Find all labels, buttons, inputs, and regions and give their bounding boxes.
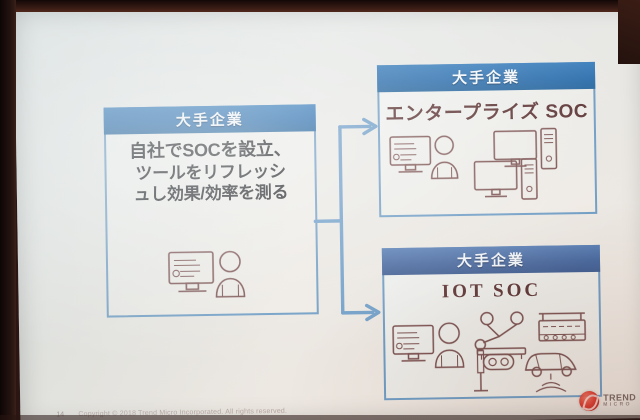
trend-micro-logo: TREND MICRO [579,390,636,411]
bottom-right-box-body: IOT SOC [382,272,602,400]
room-edge-bottom [0,415,640,420]
top-right-box-header: 大手企業 [377,62,595,92]
bottom-right-box: 大手企業 IOT SOC [382,245,602,400]
left-box-line-1: 自社でSOCを設立、 [104,137,316,163]
left-box-header: 大手企業 [104,104,316,134]
robot-arm-icon [475,312,526,360]
desktop-pc-tower-icon [474,159,537,200]
left-box-text: 自社でSOCを設立、 ツールをリフレッシ ュし効果/効率を測る [104,137,317,206]
top-right-icon-group [378,124,597,213]
iot-soc-title: IOT SOC [382,279,600,304]
trend-micro-ball-icon [579,391,599,411]
bottom-right-icon-group [383,307,602,396]
factory-conveyor-icon [539,313,585,341]
analyst-at-monitor-icon [390,136,458,179]
enterprise-soc-title: エンタープライズ SOC [377,96,595,126]
analyst-at-monitor-icon [106,245,319,309]
traffic-camera-icon [473,350,514,391]
logo-secondary-text: MICRO [603,402,636,408]
bottom-right-box-header: 大手企業 [382,245,600,275]
room-edge-right [618,0,640,64]
left-box-body: 自社でSOCを設立、 ツールをリフレッシ ュし効果/効率を測る [104,131,319,317]
left-box: 大手企業 自社でSOCを設立、 ツールをリフレッシ ュし効果/効率を測る [104,104,319,317]
connected-car-icon [525,353,576,392]
trend-micro-logo-text: TREND MICRO [603,393,636,408]
projection-screen: 大手企業 自社でSOCを設立、 ツールをリフレッシ ュし効果/効率を測る [14,0,640,420]
left-box-line-3: ュし効果/効率を測る [105,181,317,206]
desktop-pc-tower-icon [494,129,557,170]
top-right-box: 大手企業 エンタープライズ SOC [377,62,597,217]
screenshot-stage: 大手企業 自社でSOCを設立、 ツールをリフレッシ ュし効果/効率を測る [0,0,640,420]
room-edge-left [0,0,16,420]
room-edge-top [0,0,640,12]
top-right-box-body: エンタープライズ SOC [377,89,597,217]
analyst-at-monitor-icon [393,323,464,368]
